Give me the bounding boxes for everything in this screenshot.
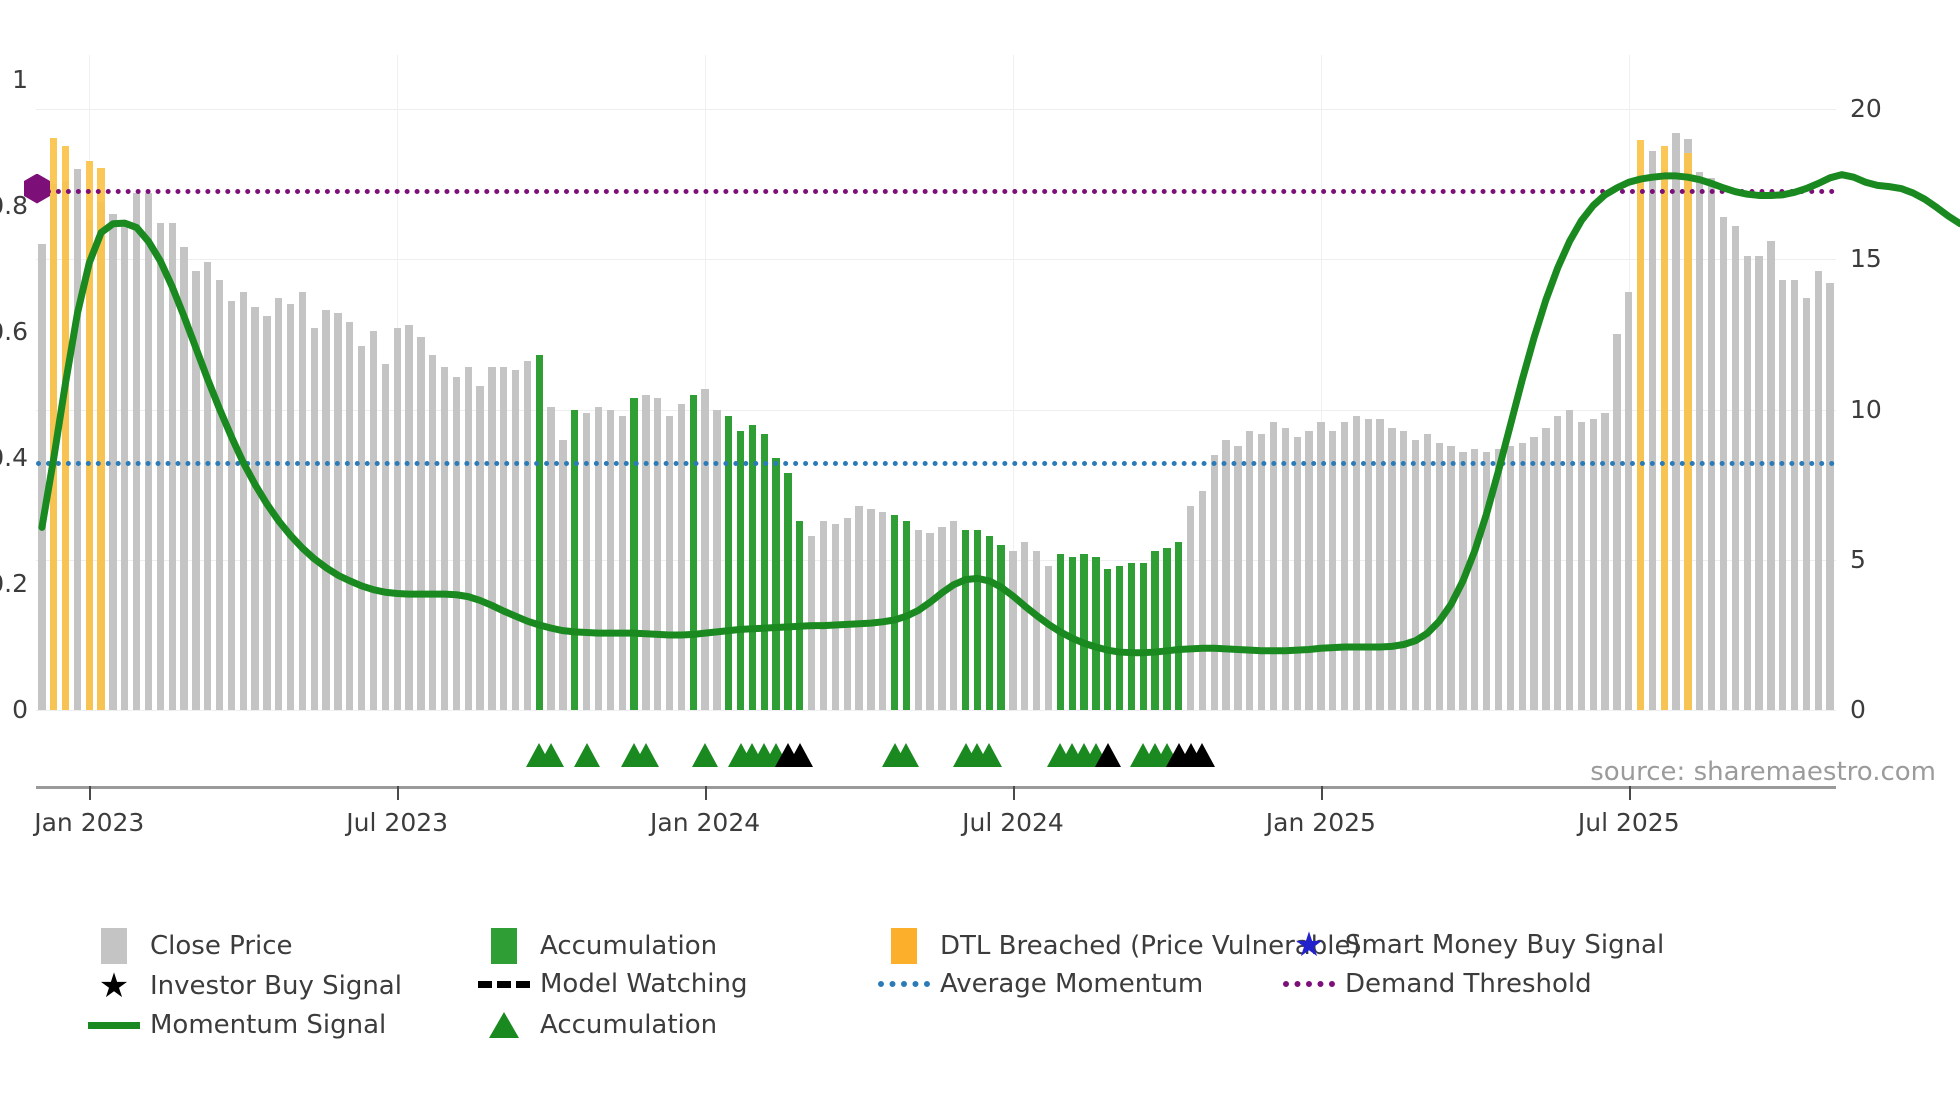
accumulation-bar-swatch-glyph	[491, 928, 517, 964]
close-price-swatch-glyph	[101, 928, 127, 964]
dtl-breached-swatch-glyph	[891, 928, 917, 964]
x-axis-label: Jan 2024	[650, 808, 760, 837]
chart-legend: Close PriceAccumulationDTL Breached (Pri…	[78, 928, 1928, 1051]
y-axis-left-tick: 0.8	[0, 193, 28, 218]
demand-threshold-swatch-glyph	[1283, 981, 1335, 987]
x-axis-label: Jan 2025	[1266, 808, 1376, 837]
x-axis-label: Jul 2023	[346, 808, 448, 837]
legend-item-accumulation-bar-swatch[interactable]: Accumulation	[468, 928, 717, 964]
source-attribution: source: sharemaestro.com	[1590, 757, 1936, 787]
model-watching-swatch	[468, 981, 540, 988]
y-axis-left-tick: 0	[0, 697, 28, 722]
momentum-signal-swatch	[78, 1022, 150, 1029]
accumulation-triangle-marker	[633, 743, 659, 767]
legend-label: Momentum Signal	[150, 1010, 386, 1040]
y-axis-left-tick: 0.6	[0, 319, 28, 344]
momentum-path	[42, 175, 1960, 653]
smart-money-buy-swatch-glyph: ★	[1294, 928, 1324, 962]
legend-item-smart-money-buy-swatch[interactable]: ★Smart Money Buy Signal	[1273, 928, 1664, 962]
x-axis-label: Jan 2023	[34, 808, 144, 837]
legend-item-accumulation-triangle-swatch[interactable]: Accumulation	[468, 1010, 717, 1040]
x-axis-tick	[1013, 786, 1015, 800]
x-axis	[36, 786, 1836, 789]
close-price-swatch	[78, 928, 150, 964]
legend-item-average-momentum-swatch[interactable]: Average Momentum	[868, 969, 1203, 999]
x-axis-tick	[1321, 786, 1323, 800]
legend-label: Demand Threshold	[1345, 969, 1592, 999]
y-axis-right-tick: 5	[1850, 547, 1900, 572]
legend-label: Investor Buy Signal	[150, 971, 402, 1001]
legend-item-momentum-signal-swatch[interactable]: Momentum Signal	[78, 1010, 386, 1040]
legend-label: Close Price	[150, 931, 293, 961]
legend-label: Average Momentum	[940, 969, 1203, 999]
legend-label: Smart Money Buy Signal	[1345, 930, 1664, 960]
gridline	[36, 710, 1836, 711]
x-axis-tick	[705, 786, 707, 800]
legend-row: ★Investor Buy SignalModel WatchingAverag…	[78, 969, 1928, 1010]
momentum-signal-swatch-glyph	[88, 1022, 140, 1029]
x-axis-tick	[89, 786, 91, 800]
average-momentum-swatch	[868, 981, 940, 987]
accumulation-marker-row	[36, 740, 1836, 770]
legend-item-investor-buy-swatch[interactable]: ★Investor Buy Signal	[78, 969, 402, 1003]
investor-buy-triangle-marker	[787, 743, 813, 767]
legend-row: Momentum SignalAccumulation	[78, 1010, 1928, 1051]
investor-buy-triangle-marker	[1095, 743, 1121, 767]
legend-row: Close PriceAccumulationDTL Breached (Pri…	[78, 928, 1928, 969]
accumulation-triangle-marker	[692, 743, 718, 767]
accumulation-bar-swatch	[468, 928, 540, 964]
average-momentum-swatch-glyph	[878, 981, 930, 987]
accumulation-triangle-marker	[976, 743, 1002, 767]
legend-item-close-price-swatch[interactable]: Close Price	[78, 928, 293, 964]
x-axis-tick	[1629, 786, 1631, 800]
chart-root: 00.20.40.60.81 05101520 Jan 2023Jul 2023…	[0, 0, 1960, 1102]
y-axis-left-tick: 1	[0, 67, 28, 92]
model-watching-swatch-glyph	[478, 981, 530, 988]
momentum-signal-curve	[36, 55, 1836, 710]
y-axis-left-tick: 0.4	[0, 445, 28, 470]
legend-label: Accumulation	[540, 1010, 717, 1040]
x-axis-label: Jul 2025	[1578, 808, 1680, 837]
smart-money-buy-swatch: ★	[1273, 928, 1345, 962]
legend-item-demand-threshold-swatch[interactable]: Demand Threshold	[1273, 969, 1592, 999]
investor-buy-swatch: ★	[78, 969, 150, 1003]
y-axis-right-tick: 20	[1850, 96, 1900, 121]
x-axis-label: Jul 2024	[962, 808, 1064, 837]
y-axis-right-tick: 0	[1850, 697, 1900, 722]
plot-area	[36, 55, 1836, 710]
dtl-breached-swatch	[868, 928, 940, 964]
investor-buy-triangle-marker	[1189, 743, 1215, 767]
x-axis-tick	[397, 786, 399, 800]
accumulation-triangle-swatch-glyph	[489, 1012, 519, 1038]
accumulation-triangle-marker	[538, 743, 564, 767]
legend-label: Accumulation	[540, 931, 717, 961]
accumulation-triangle-swatch	[468, 1012, 540, 1038]
legend-item-model-watching-swatch[interactable]: Model Watching	[468, 969, 747, 999]
y-axis-right-tick: 15	[1850, 246, 1900, 271]
demand-threshold-swatch	[1273, 981, 1345, 987]
accumulation-triangle-marker	[893, 743, 919, 767]
investor-buy-swatch-glyph: ★	[99, 969, 129, 1003]
y-axis-left-tick: 0.2	[0, 571, 28, 596]
y-axis-right-tick: 10	[1850, 397, 1900, 422]
legend-label: Model Watching	[540, 969, 747, 999]
accumulation-triangle-marker	[574, 743, 600, 767]
